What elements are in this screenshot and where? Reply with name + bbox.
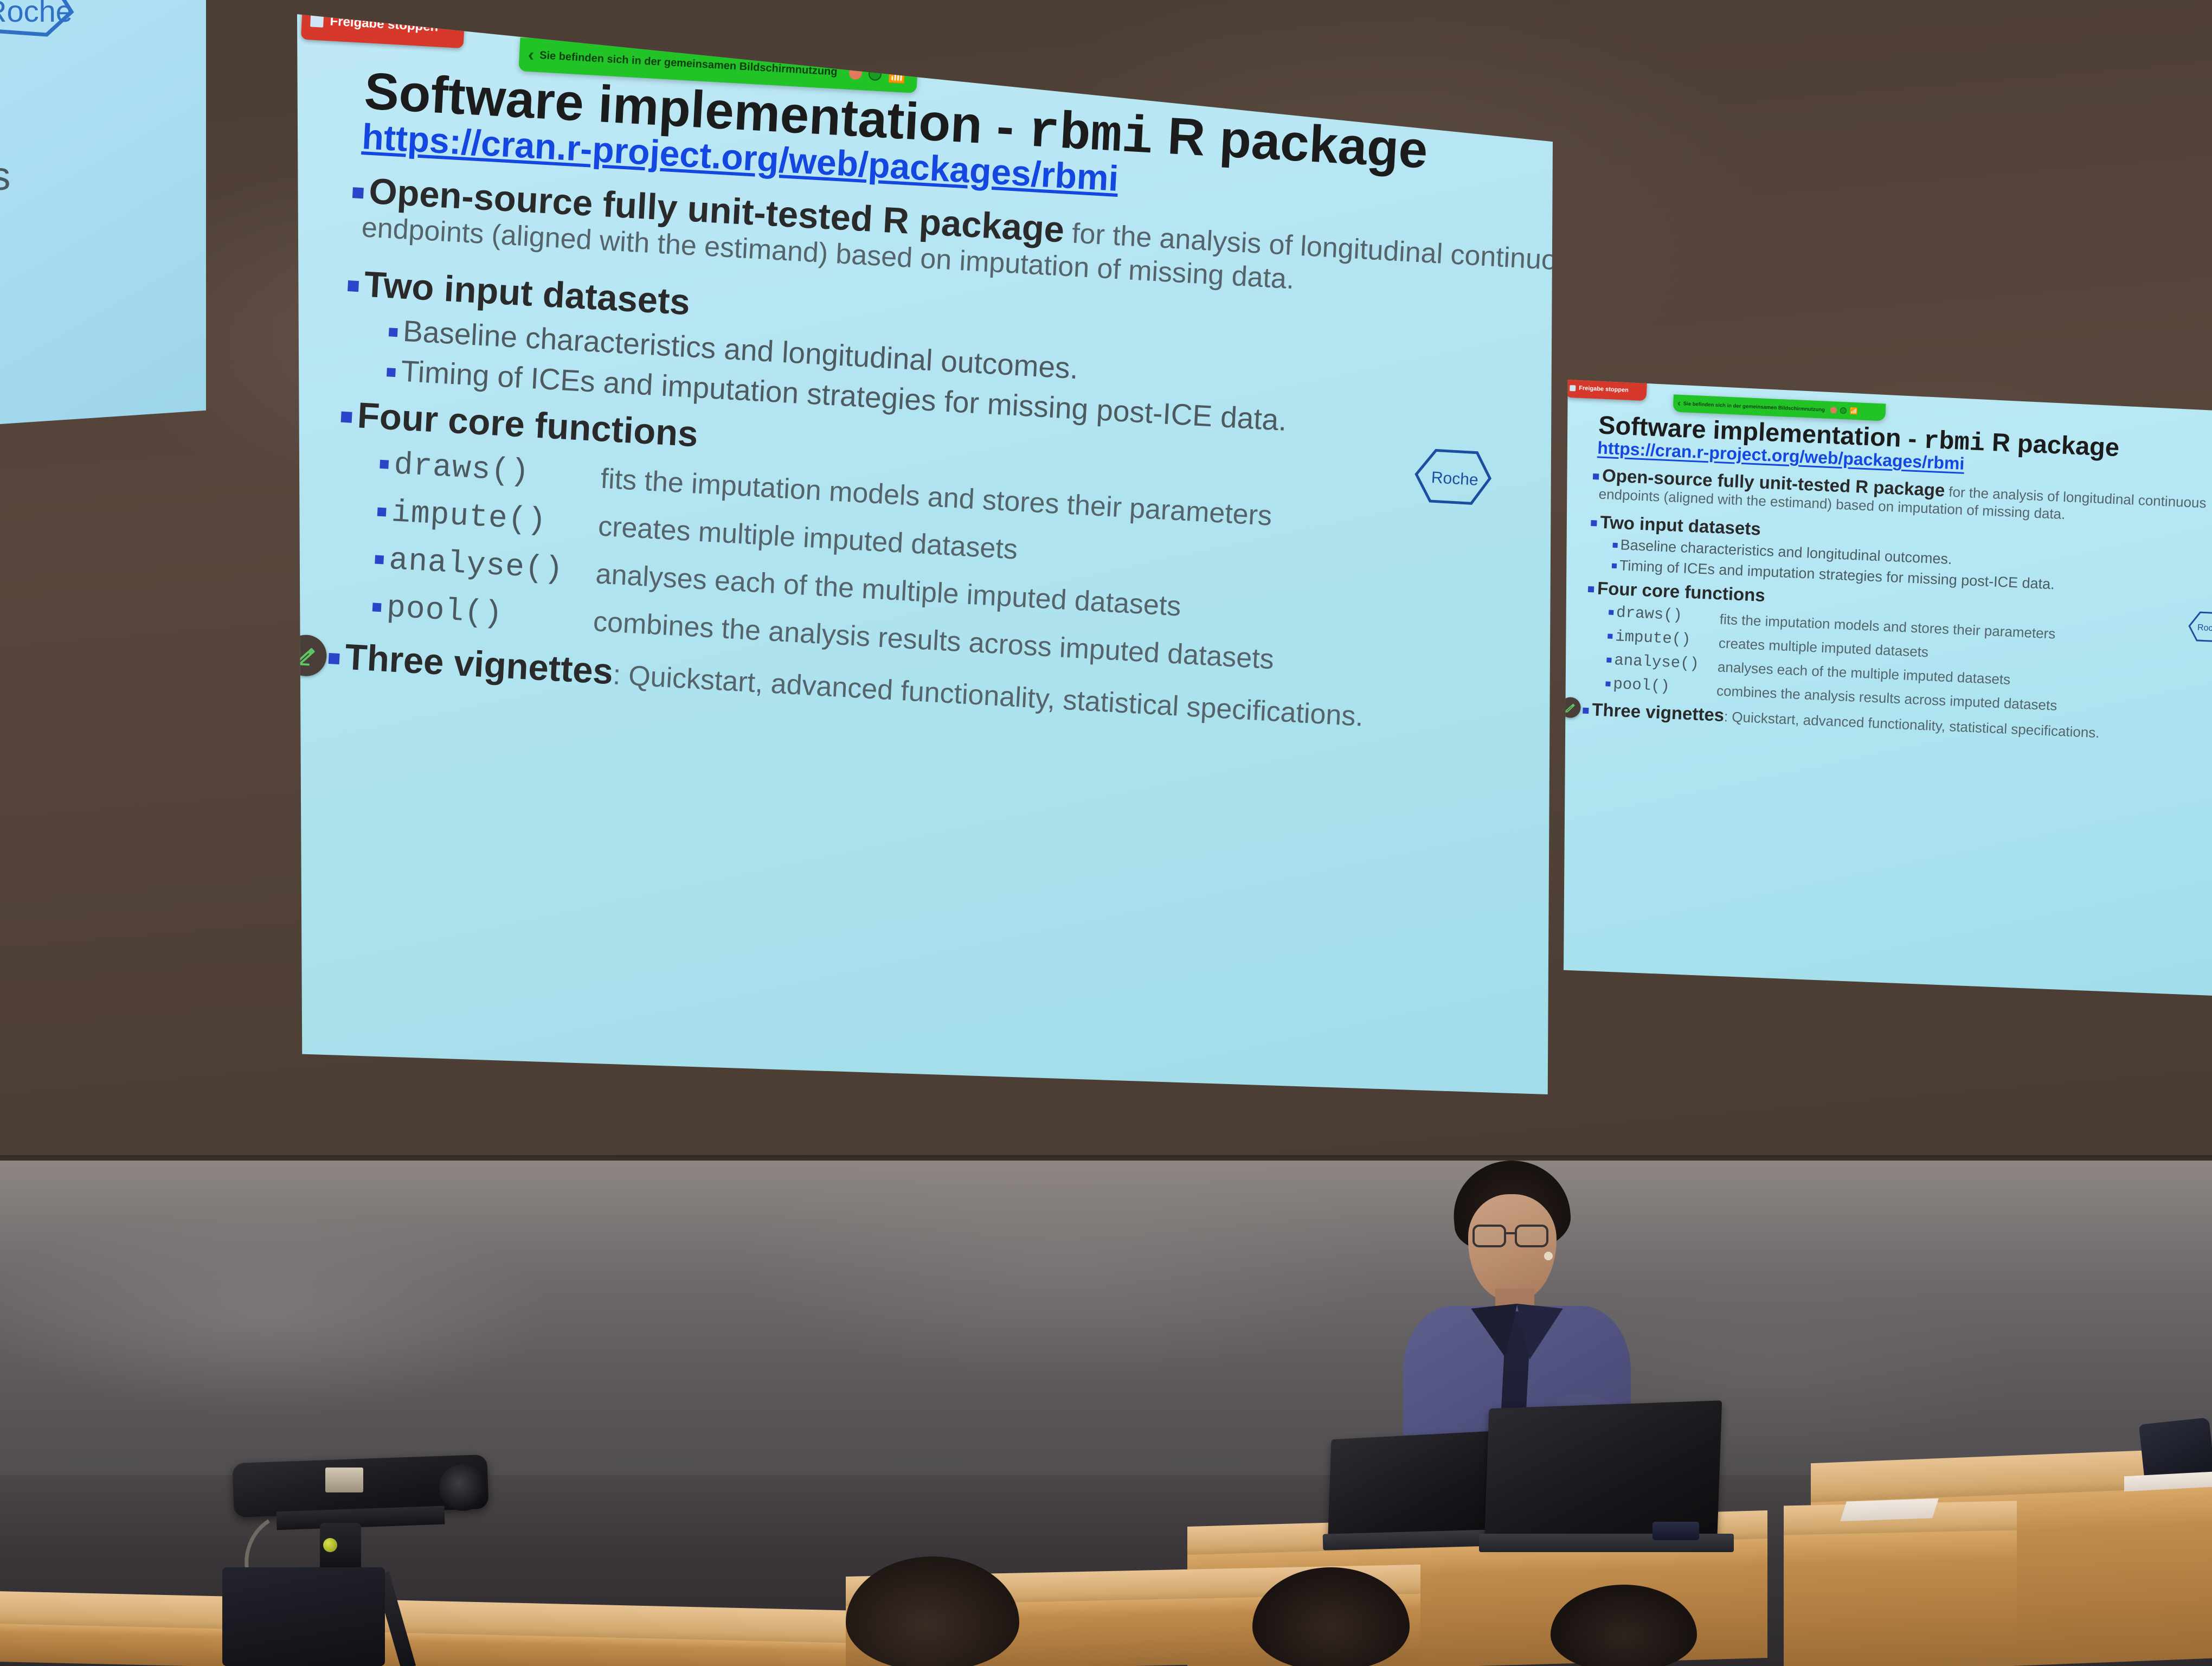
function-row-pool: pool() combines the analysis results acr…	[371, 587, 504, 632]
function-name: draws()	[393, 447, 531, 490]
bullet-marker	[1588, 586, 1594, 592]
mute-indicator-icon[interactable]	[1830, 407, 1837, 414]
vignettes-bold-text: Three vignettes	[344, 637, 614, 693]
function-row-pool-right: pool() combines the analysis results acr…	[1605, 675, 1670, 695]
bullet-marker	[329, 653, 340, 664]
share-collapse-chevron-icon[interactable]: ‹	[528, 44, 535, 66]
stop-sharing-button-right[interactable]: Freigabe stoppen	[1565, 380, 1647, 401]
function-description: analyses each of the multiple imputed da…	[1717, 658, 2010, 688]
paper-sheet-right	[1840, 1498, 1939, 1521]
function-row-draws: draws() fits the imputation models and s…	[379, 445, 531, 490]
bullet-marker	[1605, 682, 1610, 687]
presenter-glasses	[1472, 1225, 1555, 1248]
function-description: creates multiple imputed datasets	[1718, 635, 1928, 661]
bullet-marker	[1606, 658, 1611, 663]
svg-text:Roche: Roche	[2197, 623, 2212, 633]
presenter-clicker[interactable]	[1652, 1522, 1699, 1540]
share-collapse-chevron-icon[interactable]: ‹	[1677, 398, 1681, 409]
stop-square-icon	[1570, 385, 1576, 391]
function-name: draws()	[1616, 604, 1683, 624]
bullet-marker	[377, 508, 387, 517]
bullet-marker	[348, 280, 359, 292]
roche-logo-main: Roche	[1410, 443, 1495, 511]
bullet-marker	[372, 603, 382, 612]
desk-front-right-far	[1784, 1530, 2017, 1666]
camera-bag	[222, 1567, 385, 1666]
function-description: creates multiple imputed datasets	[597, 510, 1019, 566]
presenter-headset-mic	[1544, 1252, 1553, 1260]
pencil-icon	[297, 643, 318, 668]
laptop-screen-left	[1328, 1430, 1510, 1542]
roche-logo-left: Roche	[0, 0, 76, 40]
slide-title-tail: R package	[1984, 427, 2120, 462]
bullet-marker	[352, 187, 364, 198]
wall-lower	[0, 1161, 2212, 1497]
projection-screen-left: Roche uous	[0, 0, 206, 428]
lecture-hall-photo: Roche uous ‹ Sie befinden sich in der ge…	[0, 0, 2212, 1666]
function-name: analyse()	[1614, 651, 1700, 673]
bullet-bold-text: Four core functions	[1597, 578, 1765, 605]
bullet-marker	[1583, 707, 1589, 713]
function-name: pool()	[1613, 675, 1670, 696]
bullet-marker	[375, 555, 384, 565]
function-name: pool()	[385, 591, 504, 632]
bullet-marker	[1593, 473, 1599, 479]
annotation-pen-badge[interactable]	[297, 634, 327, 677]
bag-on-desk	[2139, 1417, 2212, 1481]
bullet-marker	[1612, 563, 1617, 568]
annotation-pen-badge-right[interactable]	[1564, 697, 1581, 719]
projection-screen-main: ‹ Sie befinden sich in der gemeinsamen B…	[297, 4, 1553, 1094]
function-row-impute-right: impute() creates multiple imputed datase…	[1607, 627, 1692, 649]
camera-brand-badge	[325, 1468, 363, 1492]
vignettes-bold-text: Three vignettes	[1592, 699, 1725, 725]
function-row-analyse-right: analyse() analyses each of the multiple …	[1606, 651, 1700, 672]
bullet-marker	[380, 460, 389, 469]
function-name: impute()	[390, 495, 547, 539]
shield-icon[interactable]	[1840, 407, 1847, 414]
stop-sharing-label: Freigabe stoppen	[1579, 385, 1629, 394]
bullet-marker	[1612, 543, 1617, 548]
camera-lens	[439, 1464, 487, 1511]
svg-text:Roche: Roche	[1431, 469, 1478, 489]
bullet-two-input-datasets-right: Two input datasets	[1591, 511, 1761, 540]
bullet-marker	[341, 412, 352, 423]
signal-icon[interactable]: 📶	[1850, 408, 1858, 415]
bullet-marker	[389, 328, 398, 337]
pencil-icon	[1564, 701, 1577, 714]
svg-text:Roche: Roche	[0, 0, 73, 28]
function-row-draws-right: draws() fits the imputation models and s…	[1609, 604, 1683, 625]
share-banner-message: Sie befinden sich in der gemeinsamen Bil…	[1683, 401, 1825, 413]
function-name: impute()	[1615, 627, 1692, 649]
function-row-impute: impute() creates multiple imputed datase…	[377, 492, 548, 539]
left-screen-text-fragment: uous	[0, 153, 11, 199]
bullet-marker	[387, 368, 396, 377]
function-name: analyse()	[388, 543, 564, 588]
roche-logo-right: Roche	[2186, 608, 2212, 646]
function-row-analyse: analyse() analyses each of the multiple …	[374, 540, 564, 588]
bullet-marker	[1607, 634, 1612, 639]
bullet-marker	[1591, 520, 1597, 526]
projection-screen-right: ‹ Sie befinden sich in der gemeinsamen B…	[1564, 380, 2212, 998]
bullet-four-core-functions-right: Four core functions	[1587, 578, 1765, 606]
bullet-bold-text: Two input datasets	[1600, 512, 1761, 539]
bullet-marker	[1609, 610, 1613, 615]
